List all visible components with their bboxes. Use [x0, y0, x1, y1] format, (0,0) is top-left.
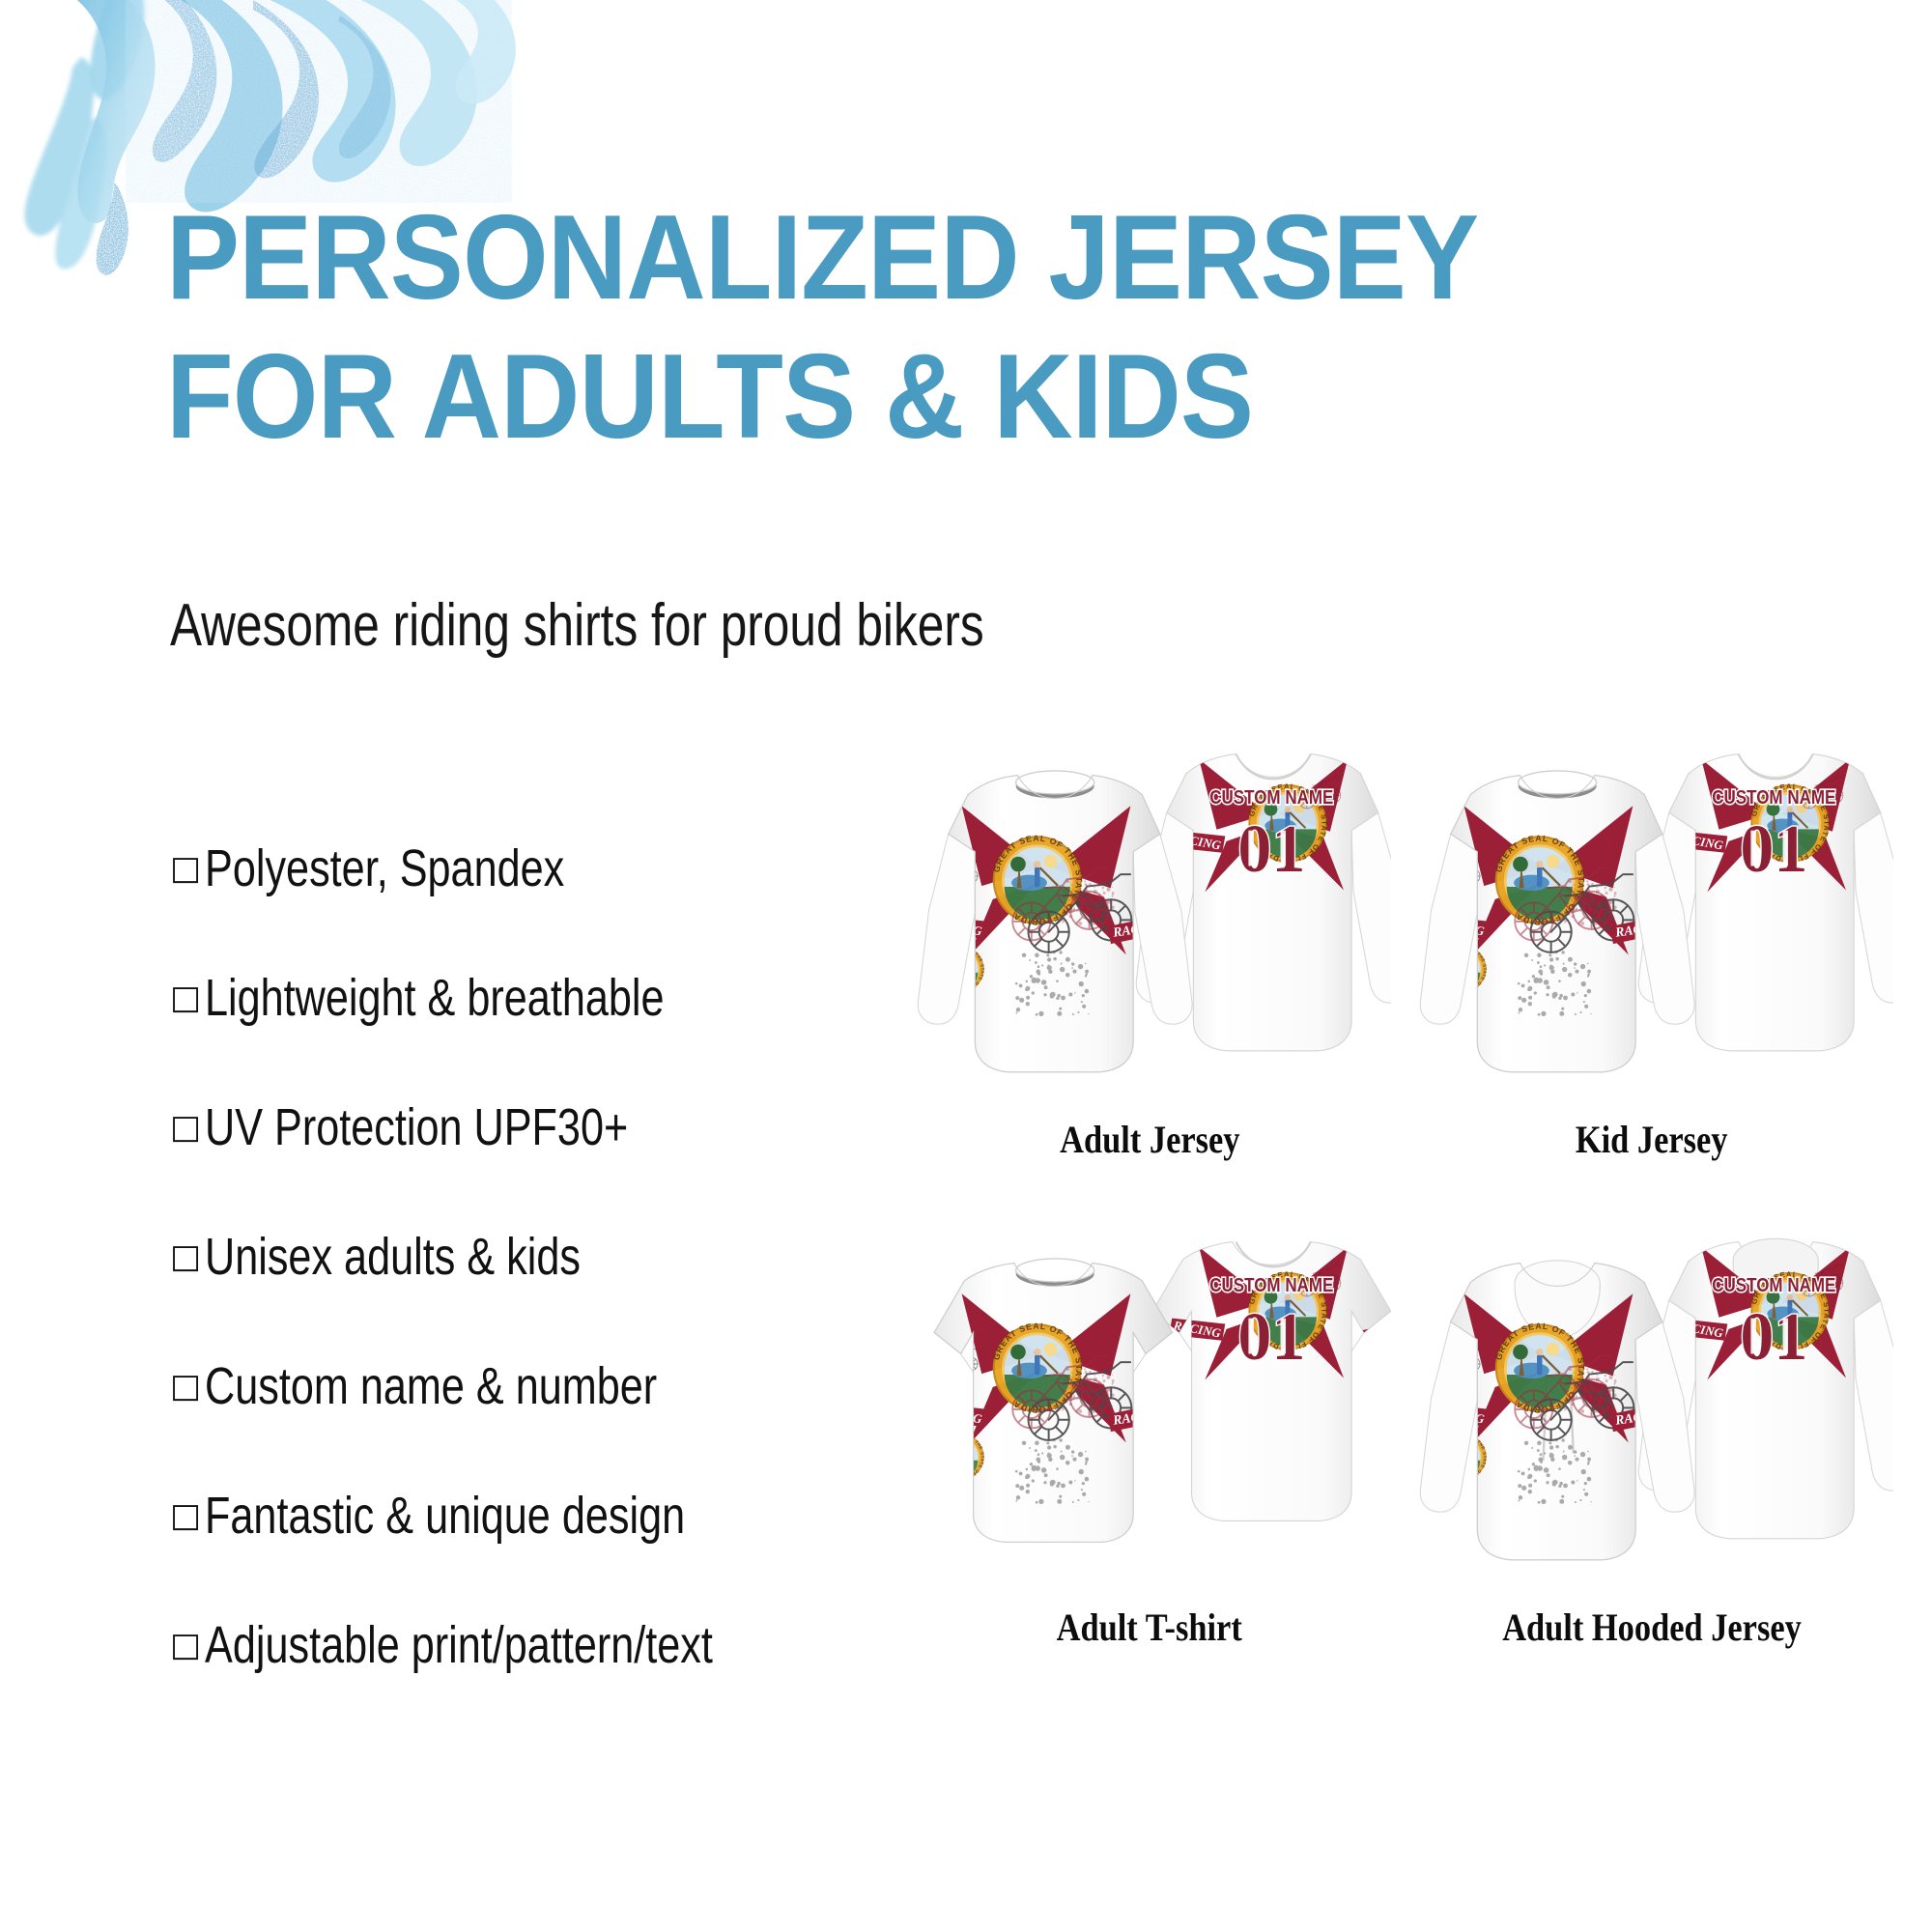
- product-image-kid-jersey: GREAT SEAL OF THE STATE OF FLORIDACUSTOM…: [1410, 734, 1893, 1121]
- svg-text:CUSTOM NAME: CUSTOM NAME: [1209, 786, 1333, 809]
- svg-text:GREAT SEAL OF THE STATE OF FLO: GREAT SEAL OF THE STATE OF FLORIDA: [1359, 1356, 1391, 1402]
- product-label: Adult Jersey: [1060, 1117, 1239, 1162]
- feature-item: □ UV Protection UPF30+: [170, 1063, 1059, 1192]
- headline-line-2: FOR ADULTS & KIDS: [166, 328, 1588, 468]
- feature-label: Fantastic & unique design: [205, 1486, 685, 1546]
- page-title: PERSONALIZED JERSEY FOR ADULTS & KIDS: [166, 189, 1712, 468]
- product-label: Adult Hooded Jersey: [1502, 1605, 1802, 1650]
- svg-text:CUSTOM NAME: CUSTOM NAME: [1712, 786, 1835, 809]
- watercolor-speckles: [126, 0, 512, 203]
- headline-line-1: PERSONALIZED JERSEY: [166, 189, 1588, 328]
- svg-text:01: 01: [1740, 812, 1807, 887]
- feature-label: Custom name & number: [205, 1356, 657, 1416]
- product-label: Adult T-shirt: [1057, 1605, 1242, 1650]
- feature-item: □ Fantastic & unique design: [170, 1451, 1059, 1580]
- svg-text:01: 01: [1237, 812, 1305, 887]
- subtitle: Awesome riding shirts for proud bikers: [170, 591, 984, 660]
- svg-text:CUSTOM NAME: CUSTOM NAME: [1209, 1274, 1333, 1296]
- empty-square-bullet-icon: □: [170, 1240, 205, 1273]
- product-kid-jersey[interactable]: GREAT SEAL OF THE STATE OF FLORIDACUSTOM…: [1401, 734, 1903, 1162]
- svg-text:01: 01: [1237, 1300, 1305, 1375]
- empty-square-bullet-icon: □: [170, 981, 205, 1014]
- empty-square-bullet-icon: □: [170, 1111, 205, 1144]
- product-label: Kid Jersey: [1576, 1117, 1728, 1162]
- feature-item: □ Polyester, Spandex: [170, 804, 1059, 933]
- feature-item: □ Unisex adults & kids: [170, 1192, 1059, 1321]
- empty-square-bullet-icon: □: [170, 1370, 205, 1403]
- svg-text:CUSTOM NAME: CUSTOM NAME: [1712, 1274, 1835, 1296]
- watercolor-base-shapes: [25, 0, 145, 270]
- product-adult-hooded-jersey[interactable]: GREAT SEAL OF THE STATE OF FLORIDACUSTOM…: [1401, 1222, 1903, 1650]
- feature-item: □ Lightweight & breathable: [170, 933, 1059, 1063]
- feature-item: □ Adjustable print/pattern/text: [170, 1580, 1059, 1710]
- feature-item: □ Custom name & number: [170, 1321, 1059, 1451]
- empty-square-bullet-icon: □: [170, 852, 205, 885]
- feature-label: Adjustable print/pattern/text: [205, 1615, 713, 1675]
- feature-list: □ Polyester, Spandex □ Lightweight & bre…: [170, 804, 1059, 1710]
- empty-square-bullet-icon: □: [170, 1499, 205, 1532]
- empty-square-bullet-icon: □: [170, 1629, 205, 1662]
- feature-label: Lightweight & breathable: [205, 968, 665, 1028]
- feature-label: Polyester, Spandex: [205, 838, 564, 898]
- feature-label: Unisex adults & kids: [205, 1227, 581, 1287]
- feature-label: UV Protection UPF30+: [205, 1097, 628, 1157]
- svg-text:01: 01: [1740, 1300, 1807, 1375]
- product-image-adult-hooded-jersey: GREAT SEAL OF THE STATE OF FLORIDACUSTOM…: [1410, 1222, 1893, 1608]
